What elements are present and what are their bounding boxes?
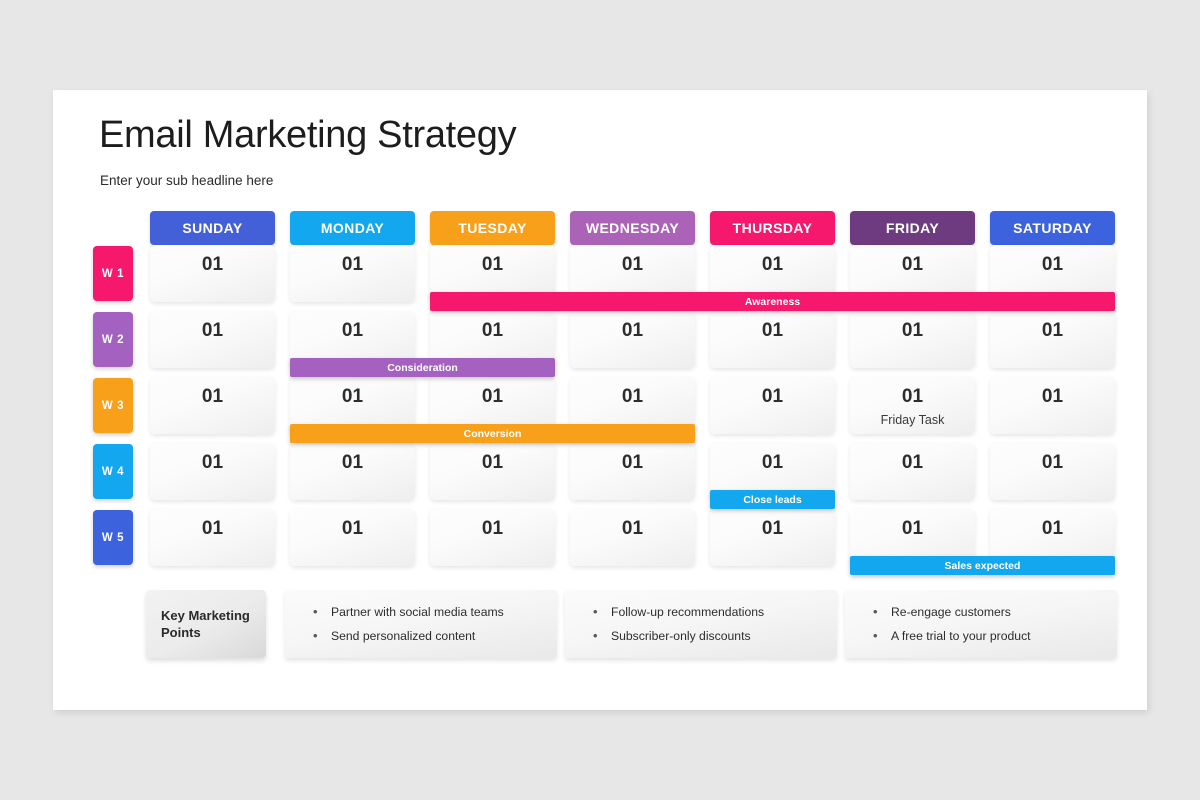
- key-marketing-points-box: Key Marketing Points: [146, 590, 266, 658]
- calendar-cell[interactable]: 01Friday Task: [850, 377, 975, 434]
- calendar-cell[interactable]: 01: [150, 311, 275, 368]
- calendar-cell[interactable]: 01: [710, 377, 835, 434]
- cell-value: 01: [290, 452, 415, 474]
- day-header-monday[interactable]: MONDAY: [290, 211, 415, 245]
- week-badge-label: W 2: [102, 334, 124, 346]
- cell-value: 01: [430, 320, 555, 342]
- calendar-cell[interactable]: 01: [850, 311, 975, 368]
- cell-sublabel: Friday Task: [850, 413, 975, 427]
- day-header-label: FRIDAY: [886, 220, 939, 236]
- cell-value: 01: [570, 452, 695, 474]
- cell-value: 01: [430, 386, 555, 408]
- cell-value: 01: [430, 518, 555, 540]
- list-item: Re-engage customers: [891, 600, 1117, 624]
- week-badge-2[interactable]: W 2: [93, 312, 133, 367]
- week-badge-label: W 1: [102, 268, 124, 280]
- day-header-sunday[interactable]: SUNDAY: [150, 211, 275, 245]
- day-header-saturday[interactable]: SATURDAY: [990, 211, 1115, 245]
- slide-canvas: Email Marketing Strategy Enter your sub …: [53, 90, 1147, 710]
- calendar-cell[interactable]: 01: [290, 443, 415, 500]
- phase-banner-label: Awareness: [745, 296, 800, 308]
- list-item: Partner with social media teams: [331, 600, 557, 624]
- calendar-cell[interactable]: 01: [290, 245, 415, 302]
- cell-value: 01: [850, 320, 975, 342]
- cell-value: 01: [290, 320, 415, 342]
- cell-value: 01: [150, 254, 275, 276]
- day-header-label: WEDNESDAY: [586, 220, 679, 236]
- cell-value: 01: [430, 254, 555, 276]
- calendar-cell[interactable]: 01: [570, 311, 695, 368]
- calendar-cell[interactable]: 01: [570, 443, 695, 500]
- marketing-note-box: Re-engage customersA free trial to your …: [845, 590, 1117, 658]
- cell-value: 01: [850, 518, 975, 540]
- calendar-cell[interactable]: 01: [710, 311, 835, 368]
- list-item: A free trial to your product: [891, 624, 1117, 648]
- cell-value: 01: [850, 386, 975, 408]
- cell-value: 01: [290, 386, 415, 408]
- day-header-wednesday[interactable]: WEDNESDAY: [570, 211, 695, 245]
- list-item: Follow-up recommendations: [611, 600, 837, 624]
- calendar-cell[interactable]: 01: [150, 245, 275, 302]
- cell-value: 01: [710, 518, 835, 540]
- day-header-thursday[interactable]: THURSDAY: [710, 211, 835, 245]
- cell-value: 01: [710, 254, 835, 276]
- calendar-cell[interactable]: 01: [990, 311, 1115, 368]
- week-badge-1[interactable]: W 1: [93, 246, 133, 301]
- calendar-cell[interactable]: 01: [430, 509, 555, 566]
- calendar-cell[interactable]: 01: [430, 443, 555, 500]
- list-item: Subscriber-only discounts: [611, 624, 837, 648]
- cell-value: 01: [990, 254, 1115, 276]
- day-header-label: SATURDAY: [1013, 220, 1092, 236]
- phase-banner-close-leads[interactable]: Close leads: [710, 490, 835, 509]
- calendar-cell[interactable]: 01: [150, 509, 275, 566]
- day-header-label: SUNDAY: [182, 220, 242, 236]
- phase-banner-sales-expected[interactable]: Sales expected: [850, 556, 1115, 575]
- cell-value: 01: [570, 518, 695, 540]
- week-badge-4[interactable]: W 4: [93, 444, 133, 499]
- cell-value: 01: [710, 452, 835, 474]
- phase-banner-label: Consideration: [387, 362, 458, 374]
- cell-value: 01: [430, 452, 555, 474]
- marketing-note-box: Partner with social media teamsSend pers…: [285, 590, 557, 658]
- day-header-label: MONDAY: [321, 220, 384, 236]
- list-item: Send personalized content: [331, 624, 557, 648]
- calendar-cell[interactable]: 01: [990, 377, 1115, 434]
- calendar-cell[interactable]: 01: [150, 443, 275, 500]
- cell-value: 01: [990, 452, 1115, 474]
- calendar-cell[interactable]: 01: [990, 443, 1115, 500]
- phase-banner-consideration[interactable]: Consideration: [290, 358, 555, 377]
- cell-value: 01: [710, 386, 835, 408]
- phase-banner-label: Close leads: [743, 494, 801, 506]
- day-header-tuesday[interactable]: TUESDAY: [430, 211, 555, 245]
- phase-banner-conversion[interactable]: Conversion: [290, 424, 695, 443]
- cell-value: 01: [150, 320, 275, 342]
- cell-value: 01: [990, 320, 1115, 342]
- calendar-cell[interactable]: 01: [710, 509, 835, 566]
- cell-value: 01: [290, 254, 415, 276]
- cell-value: 01: [990, 386, 1115, 408]
- calendar-cell[interactable]: 01: [570, 509, 695, 566]
- week-badge-5[interactable]: W 5: [93, 510, 133, 565]
- phase-banner-label: Sales expected: [945, 560, 1021, 572]
- calendar-cell[interactable]: 01: [290, 509, 415, 566]
- marketing-note-box: Follow-up recommendationsSubscriber-only…: [565, 590, 837, 658]
- cell-value: 01: [150, 452, 275, 474]
- week-badge-label: W 4: [102, 466, 124, 478]
- cell-value: 01: [850, 254, 975, 276]
- calendar-cell[interactable]: 01: [850, 443, 975, 500]
- week-badge-label: W 5: [102, 532, 124, 544]
- cell-value: 01: [150, 386, 275, 408]
- calendar-cell[interactable]: 01: [150, 377, 275, 434]
- day-header-label: THURSDAY: [733, 220, 813, 236]
- key-marketing-points-label: Key Marketing Points: [161, 607, 266, 641]
- cell-value: 01: [710, 320, 835, 342]
- week-badge-label: W 3: [102, 400, 124, 412]
- cell-value: 01: [290, 518, 415, 540]
- cell-value: 01: [850, 452, 975, 474]
- cell-value: 01: [990, 518, 1115, 540]
- phase-banner-label: Conversion: [464, 428, 522, 440]
- cell-value: 01: [570, 254, 695, 276]
- day-header-label: TUESDAY: [458, 220, 526, 236]
- cell-value: 01: [570, 320, 695, 342]
- cell-value: 01: [570, 386, 695, 408]
- day-header-friday[interactable]: FRIDAY: [850, 211, 975, 245]
- phase-banner-awareness[interactable]: Awareness: [430, 292, 1115, 311]
- week-badge-3[interactable]: W 3: [93, 378, 133, 433]
- cell-value: 01: [150, 518, 275, 540]
